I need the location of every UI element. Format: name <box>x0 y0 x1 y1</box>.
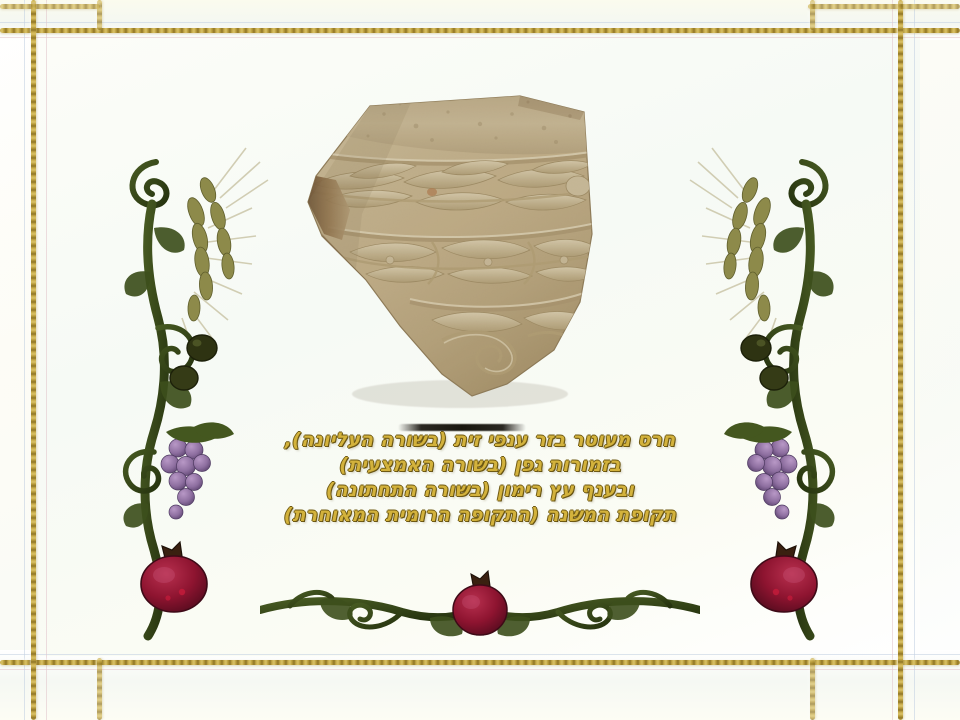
wheat-stalk <box>182 148 268 352</box>
pottery-sherd-image <box>292 84 622 424</box>
paper-wash-top <box>0 0 960 40</box>
rope-border-right-inner-bottom <box>810 658 815 720</box>
rope-border-bottom <box>0 660 960 665</box>
rope-border-top-outer-right <box>808 4 960 9</box>
rope-border-right-inner <box>810 0 815 30</box>
olive-cluster <box>741 335 788 390</box>
caption-line-2: בזמורות גפן (בשורה האמצעית) <box>150 453 810 478</box>
presentation-slide: חרס מעוטר בזר ענפי זית (בשורה העליונה), … <box>0 0 960 720</box>
hairline-top <box>0 22 960 23</box>
hairline-left <box>24 0 25 720</box>
slide-caption: חרס מעוטר בזר ענפי זית (בשורה העליונה), … <box>150 428 810 528</box>
hairline-bottom-2 <box>0 669 960 670</box>
rope-border-left-inner <box>97 0 102 30</box>
wheat-vine-ornament-right <box>672 132 862 642</box>
caption-line-3: ובענף עץ רימון (בשורה התחתונה) <box>150 478 810 503</box>
caption-line-4: תקופת המשנה (התקופה הרומית המאוחרת) <box>150 503 810 528</box>
caption-line-1: חרס מעוטר בזר ענפי זית (בשורה העליונה), <box>150 428 810 453</box>
vine-swag-ornament-bottom <box>260 556 700 660</box>
wheat-stalk <box>690 148 776 352</box>
olive-cluster <box>170 335 217 390</box>
wheat-vine-ornament-left <box>96 132 286 642</box>
rope-border-top-outer <box>0 4 100 9</box>
paper-wash-bottom <box>0 650 960 720</box>
rope-border-left-inner-bottom <box>97 658 102 720</box>
pomegranate <box>453 571 507 635</box>
rope-border-left <box>31 0 36 720</box>
rope-border-top <box>0 28 960 33</box>
